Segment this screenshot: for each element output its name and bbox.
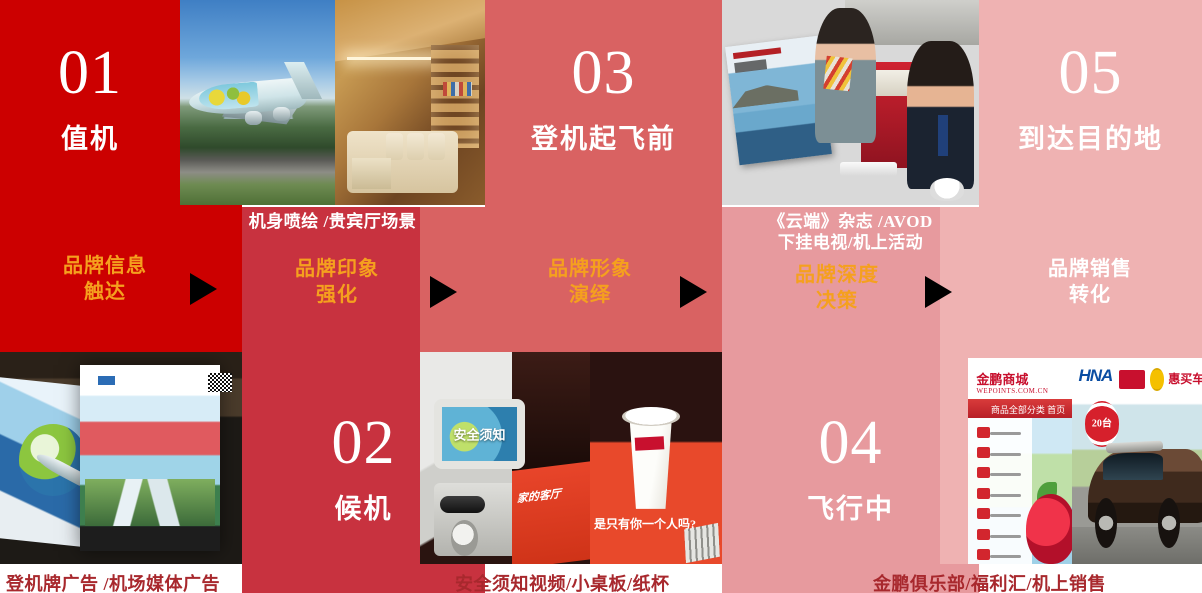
column-1-number: 01 (0, 42, 180, 104)
arrow-3-icon (680, 276, 707, 308)
column-5-benefit-line1: 品牌销售 (1015, 256, 1165, 282)
photo-airport-lightbox-ads (0, 352, 242, 564)
bottom-caption-right: 金鹏俱乐部/福利汇/机上销售 (873, 570, 1106, 593)
column-4-benefit: 品牌深度 决策 (762, 262, 912, 314)
photo-aircraft-livery (180, 0, 335, 205)
column-1-benefit: 品牌信息 触达 (30, 253, 180, 305)
column-3-benefit-line1: 品牌形象 (515, 256, 665, 282)
mall-brand-text: 金鹏商城 (976, 369, 1028, 388)
column-1-benefit-line2: 触达 (30, 279, 180, 305)
column-5-number: 05 (979, 42, 1202, 104)
column-4-caption-line2: 下挂电视/机上活动 (722, 232, 979, 253)
column-2-image-caption-line: 机身喷绘 /贵宾厅场景 (180, 211, 485, 232)
arrow-1-icon (190, 273, 217, 305)
column-4-benefit-line2: 决策 (762, 288, 912, 314)
photo-cabin-service-magazine (722, 0, 979, 205)
photo-hna-mall-app: 金鹏商城 WEPOINTS.COM.CN 商品全部分类 首页 (968, 358, 1072, 564)
column-3-benefit: 品牌形象 演绎 (515, 256, 665, 308)
column-4-image-caption: 《云端》杂志 /AVOD 下挂电视/机上活动 (722, 211, 979, 254)
column-4-benefit-line1: 品牌深度 (762, 262, 912, 288)
column-2-benefit: 品牌印象 强化 (262, 256, 412, 308)
car-badge-text: 20台 (1092, 418, 1112, 429)
column-3-number: 03 (485, 42, 722, 104)
column-2-stage-label: 候机 (242, 495, 485, 525)
hna-logo-text: HNA (1079, 366, 1113, 386)
column-2-benefit-line2: 强化 (262, 282, 412, 308)
column-5-stage-label: 到达目的地 (979, 125, 1202, 155)
photo-vip-lounge (335, 0, 485, 205)
photo-paper-cup-tray: 是只有你一个人吗? (590, 352, 722, 564)
cup-tray-text: 是只有你一个人吗? (594, 515, 696, 534)
column-5-benefit: 品牌销售 转化 (1015, 256, 1165, 308)
column-3-stage-label: 登机起飞前 (485, 125, 722, 155)
photo-hna-car-promo: HNA 惠买车 20台 (1072, 358, 1202, 564)
column-2-benefit-line1: 品牌印象 (262, 256, 412, 282)
column-2-image-caption: 机身喷绘 /贵宾厅场景 (180, 211, 485, 232)
column-4-number: 04 (722, 412, 979, 474)
column-2-number: 02 (242, 412, 485, 474)
column-1-stage-label: 值机 (0, 125, 180, 155)
column-4-stage-label: 飞行中 (722, 495, 979, 525)
arrow-2-icon (430, 276, 457, 308)
column-3-benefit-line2: 演绎 (515, 282, 665, 308)
infographic-canvas: 安全须知 家的客厅 是只有你一个人吗? 金鹏商城 WEPOINTS.COM.CN… (0, 0, 1202, 593)
car-partner-text: 惠买车 (1168, 370, 1202, 387)
mall-domain-text: WEPOINTS.COM.CN (976, 387, 1048, 395)
bottom-caption-left: 登机牌广告 /机场媒体广告 (6, 570, 220, 593)
mall-category-bar-text: 商品全部分类 首页 (991, 403, 1065, 416)
bottom-caption-middle: 安全须知视频/小桌板/纸杯 (455, 570, 670, 593)
column-1-benefit-line1: 品牌信息 (30, 253, 180, 279)
tray-print-text: 家的客厅 (517, 487, 561, 509)
arrow-4-icon (925, 276, 952, 308)
column-4-caption-line1: 《云端》杂志 /AVOD (722, 211, 979, 232)
column-5-benefit-line2: 转化 (1015, 282, 1165, 308)
